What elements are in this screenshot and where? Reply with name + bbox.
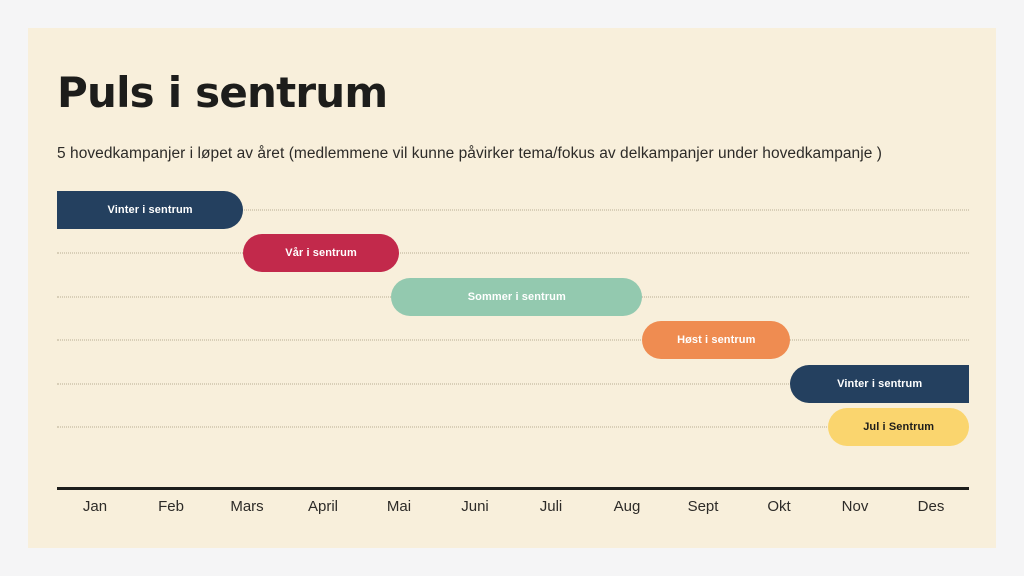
- axis-month-label: Nov: [817, 498, 893, 515]
- axis-month-label: Feb: [133, 498, 209, 515]
- axis-month-label: Mai: [361, 498, 437, 515]
- axis-month-label: April: [285, 498, 361, 515]
- slide-canvas: Puls i sentrum 5 hovedkampanjer i løpet …: [28, 28, 996, 548]
- gantt-row: Vår i sentrum: [57, 232, 969, 276]
- page-title: Puls i sentrum: [57, 68, 387, 117]
- axis-month-labels: JanFebMarsAprilMaiJuniJuliAugSeptOktNovD…: [57, 498, 969, 526]
- gantt-row: Høst i sentrum: [57, 319, 969, 363]
- gantt-bar[interactable]: Sommer i sentrum: [391, 278, 642, 316]
- gantt-bar[interactable]: Vinter i sentrum: [790, 365, 969, 403]
- gantt-bar[interactable]: Vår i sentrum: [243, 234, 399, 272]
- axis-month-label: Juni: [437, 498, 513, 515]
- gantt-guideline: [57, 340, 969, 341]
- gantt-bar[interactable]: Jul i Sentrum: [828, 408, 969, 446]
- gantt-row: Vinter i sentrum: [57, 362, 969, 406]
- axis-month-label: Aug: [589, 498, 665, 515]
- slide-subtitle: 5 hovedkampanjer i løpet av året (medlem…: [57, 145, 882, 163]
- gantt-guideline: [57, 253, 969, 254]
- gantt-row: Sommer i sentrum: [57, 275, 969, 319]
- gantt-bar[interactable]: Høst i sentrum: [642, 321, 790, 359]
- gantt-row: Jul i Sentrum: [57, 406, 969, 450]
- axis-month-label: Sept: [665, 498, 741, 515]
- gantt-rows: Vinter i sentrumVår i sentrumSommer i se…: [57, 188, 969, 468]
- axis-month-label: Mars: [209, 498, 285, 515]
- axis-month-label: Des: [893, 498, 969, 515]
- axis-month-label: Jan: [57, 498, 133, 515]
- axis-line: [57, 487, 969, 490]
- gantt-bar[interactable]: Vinter i sentrum: [57, 191, 243, 229]
- gantt-row: Vinter i sentrum: [57, 188, 969, 232]
- axis-month-label: Okt: [741, 498, 817, 515]
- axis-month-label: Juli: [513, 498, 589, 515]
- gantt-chart: Vinter i sentrumVår i sentrumSommer i se…: [57, 188, 969, 518]
